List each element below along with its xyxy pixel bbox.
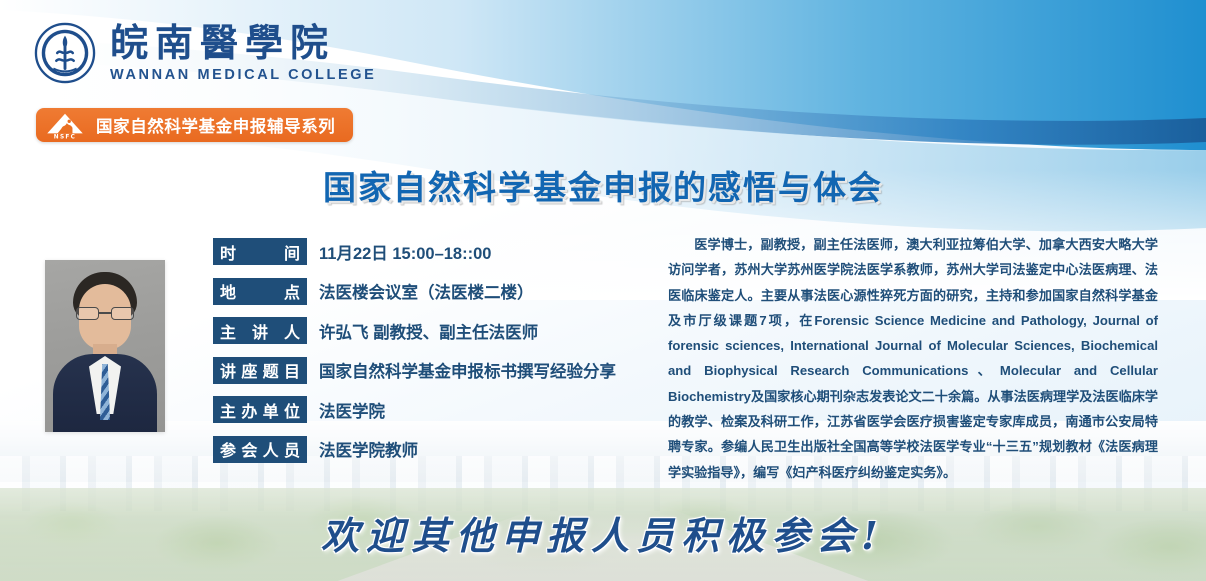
- portrait-glasses: [76, 307, 134, 320]
- info-label-topic: 讲座题目: [213, 357, 307, 384]
- series-badge: NSFC 国家自然科学基金申报辅导系列: [36, 108, 353, 142]
- institution-name-cn: 皖南醫學院: [110, 24, 376, 62]
- university-crest-icon: 1958: [34, 22, 96, 84]
- institution-logo: 1958 皖南醫學院 WANNAN MEDICAL COLLEGE: [34, 22, 376, 84]
- page-title: 国家自然科学基金申报的感悟与体会: [0, 161, 1206, 209]
- info-label-organizer: 主办单位: [213, 396, 307, 423]
- info-row-time: 时间 11月22日 15:00–18::00: [213, 238, 643, 265]
- institution-name-en: WANNAN MEDICAL COLLEGE: [110, 68, 376, 83]
- speaker-portrait: [45, 260, 165, 432]
- info-value-time: 11月22日 15:00–18::00: [319, 240, 491, 264]
- info-label-time: 时间: [213, 238, 307, 265]
- series-badge-label: 国家自然科学基金申报辅导系列: [96, 113, 335, 137]
- speaker-biography: 医学博士，副教授，副主任法医师，澳大利亚拉筹伯大学、加拿大西安大略大学访问学者，…: [668, 232, 1158, 485]
- info-row-speaker: 主讲人 许弘飞 副教授、副主任法医师: [213, 317, 643, 344]
- info-value-location: 法医楼会议室（法医楼二楼）: [319, 279, 534, 303]
- info-label-speaker: 主讲人: [213, 317, 307, 344]
- info-value-speaker: 许弘飞 副教授、副主任法医师: [319, 319, 538, 343]
- info-row-organizer: 主办单位 法医学院: [213, 396, 643, 423]
- svg-text:1958: 1958: [60, 71, 70, 76]
- info-value-topic: 国家自然科学基金申报标书撰写经验分享: [319, 358, 616, 382]
- info-label-location: 地点: [213, 278, 307, 305]
- info-value-attendees: 法医学院教师: [319, 437, 418, 461]
- svg-text:NSFC: NSFC: [54, 134, 76, 139]
- welcome-message: 欢迎其他申报人员积极参会!: [0, 505, 1206, 560]
- info-row-location: 地点 法医楼会议室（法医楼二楼）: [213, 278, 643, 305]
- nsfc-mountain-icon: NSFC: [44, 111, 86, 139]
- info-row-topic: 讲座题目 国家自然科学基金申报标书撰写经验分享: [213, 357, 643, 384]
- event-info-list: 时间 11月22日 15:00–18::00 地点 法医楼会议室（法医楼二楼） …: [213, 238, 643, 475]
- info-value-organizer: 法医学院: [319, 398, 385, 422]
- seminar-poster: 1958 皖南醫學院 WANNAN MEDICAL COLLEGE NSFC 国…: [0, 0, 1206, 581]
- info-label-attendees: 参会人员: [213, 436, 307, 463]
- info-row-attendees: 参会人员 法医学院教师: [213, 436, 643, 463]
